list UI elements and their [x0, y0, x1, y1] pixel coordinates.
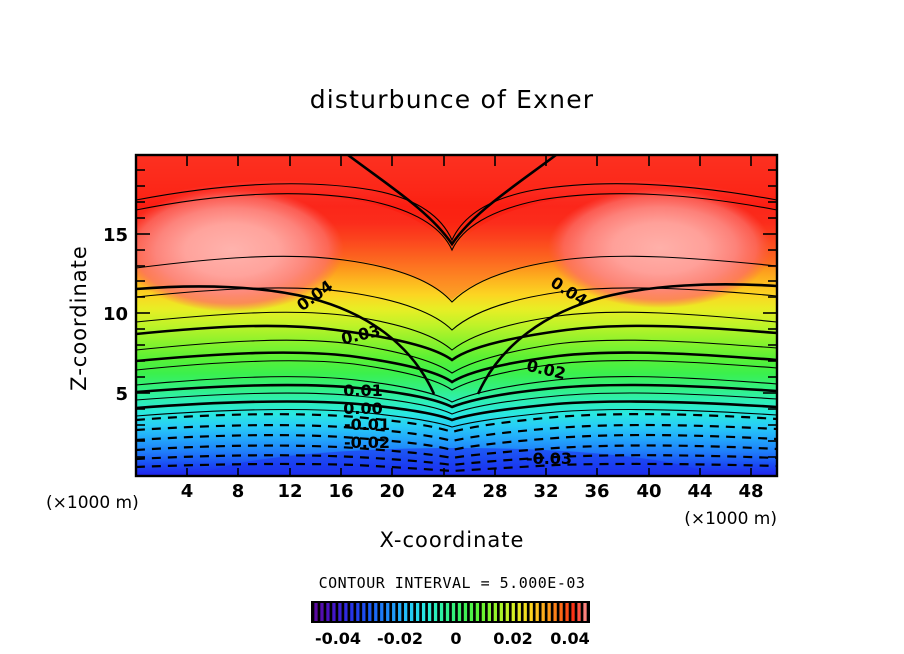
colorbar-tick-label: -0.02 — [377, 629, 423, 648]
colorbar-band — [392, 603, 395, 621]
colorbar-band — [536, 603, 539, 621]
x-tick-label: 4 — [181, 481, 194, 502]
x-tick-label: 28 — [482, 481, 507, 502]
x-tick-label: 8 — [232, 481, 245, 502]
colorbar-tick-label: -0.04 — [315, 629, 361, 648]
colorbar-band — [470, 603, 473, 621]
x-tick-label: 32 — [533, 481, 558, 502]
colorbar-band — [440, 603, 443, 621]
colorbar-band — [577, 603, 580, 621]
colorbar-band — [422, 603, 425, 621]
colorbar-band — [362, 603, 365, 621]
contour-field — [120, 155, 777, 516]
colorbar-band — [386, 603, 389, 621]
x-tick-label: 24 — [431, 481, 456, 502]
colorbar-band — [452, 603, 455, 621]
x-tick-label: 36 — [584, 481, 609, 502]
colorbar-band — [506, 603, 509, 621]
colorbar-band — [500, 603, 503, 621]
colorbar-band — [314, 603, 317, 621]
contour-label: -0.02 — [344, 433, 390, 452]
colorbar-band — [428, 603, 431, 621]
colorbar-band — [530, 603, 533, 621]
colorbar-band — [320, 603, 323, 621]
colorbar-band — [458, 603, 461, 621]
colorbar-band — [571, 603, 574, 621]
x-units-left: (×1000 m) — [46, 493, 139, 513]
colorbar-band — [494, 603, 497, 621]
colorbar-band — [434, 603, 437, 621]
colorbar-band — [446, 603, 449, 621]
x-tick-label: 40 — [636, 481, 661, 502]
colorbar-band — [416, 603, 419, 621]
y-tick-label: 10 — [103, 304, 128, 325]
colorbar-band — [368, 603, 371, 621]
colorbar-band — [476, 603, 479, 621]
y-tick-label: 5 — [115, 384, 128, 405]
x-tick-label: 12 — [277, 481, 302, 502]
contour-label: -0.03 — [526, 449, 572, 468]
x-tick-label: 48 — [738, 481, 763, 502]
colorbar-band — [518, 603, 521, 621]
contour-label: -0.01 — [344, 415, 390, 434]
x-tick-label: 20 — [379, 481, 404, 502]
colorbar-band — [482, 603, 485, 621]
colorbar-band — [410, 603, 413, 621]
colorbar-band — [374, 603, 377, 621]
colorbar-title: CONTOUR INTERVAL = 5.000E-03 — [319, 574, 586, 592]
colorbar-band — [344, 603, 347, 621]
colorbar-tick-label: 0 — [450, 629, 461, 648]
colorbar-band — [404, 603, 407, 621]
page-title: disturbunce of Exner — [310, 85, 595, 114]
colorbar-band — [548, 603, 551, 621]
contour-figure: disturbunce of Exner — [0, 0, 904, 654]
colorbar-tick-label: 0.02 — [493, 629, 532, 648]
colorbar-tick-label: 0.04 — [550, 629, 589, 648]
colorbar-band — [350, 603, 353, 621]
colorbar-band — [553, 603, 556, 621]
x-axis-label: X-coordinate — [380, 528, 525, 552]
colorbar-band — [559, 603, 562, 621]
y-tick-label: 15 — [103, 225, 128, 246]
y-axis-label: Z-coordinate — [67, 245, 91, 391]
colorbar-band — [380, 603, 383, 621]
x-tick-label: 44 — [687, 481, 712, 502]
colorbar-band — [338, 603, 341, 621]
colorbar-band — [524, 603, 527, 621]
colorbar-band — [398, 603, 401, 621]
colorbar-band — [512, 603, 515, 621]
colorbar-band — [542, 603, 545, 621]
x-units-right: (×1000 m) — [684, 509, 777, 529]
colorbar-band — [464, 603, 467, 621]
colorbar-band — [356, 603, 359, 621]
colorbar-band — [332, 603, 335, 621]
colorbar-band — [583, 603, 586, 621]
colorbar-band — [565, 603, 568, 621]
colorbar-band — [326, 603, 329, 621]
colorbar-band — [488, 603, 491, 621]
contour-label: 0.01 — [343, 381, 382, 400]
x-tick-label: 16 — [328, 481, 353, 502]
